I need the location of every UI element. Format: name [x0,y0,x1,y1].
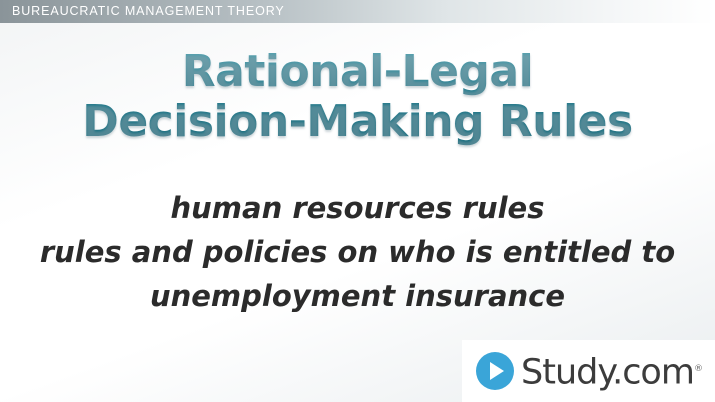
page-title-line-1: Rational-Legal [182,46,533,97]
page-title-line-2: Decision-Making Rules [0,97,715,147]
slide-canvas: BUREAUCRATIC MANAGEMENT THEORY Rational-… [0,0,715,402]
body-line-3: unemployment insurance [0,274,715,318]
topic-label: BUREAUCRATIC MANAGEMENT THEORY [12,4,285,18]
play-circle-icon [476,352,514,390]
logo-name: Study [521,353,612,393]
registered-mark: ® [694,364,703,374]
slide-topbar: BUREAUCRATIC MANAGEMENT THEORY [0,0,715,23]
study-com-logo: Study.com® [462,340,715,402]
body-line-1: human resources rules [0,186,715,230]
body-line-2: rules and policies on who is entitled to [0,230,715,274]
logo-suffix: .com [612,353,694,393]
logo-wordmark: Study.com® [521,350,703,392]
body-text: human resources rules rules and policies… [0,186,715,318]
page-title: Rational-Legal Decision-Making Rules [0,47,715,147]
